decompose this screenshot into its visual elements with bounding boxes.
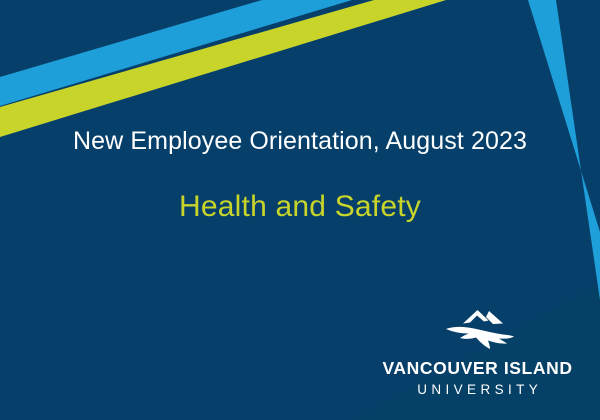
- viu-wordmark-line2: UNIVERSITY: [382, 383, 572, 397]
- viu-wordmark: VANCOUVER ISLAND UNIVERSITY: [382, 360, 572, 396]
- slide-text-block: New Employee Orientation, August 2023 He…: [0, 128, 600, 223]
- slide-title: New Employee Orientation, August 2023: [0, 128, 600, 156]
- viu-leaf-mark: [441, 307, 515, 351]
- presentation-slide: New Employee Orientation, August 2023 He…: [0, 0, 600, 420]
- slide-subtitle: Health and Safety: [0, 156, 600, 223]
- viu-wordmark-line1: VANCOUVER ISLAND: [382, 360, 572, 378]
- viu-logo: VANCOUVER ISLAND UNIVERSITY: [355, 280, 600, 420]
